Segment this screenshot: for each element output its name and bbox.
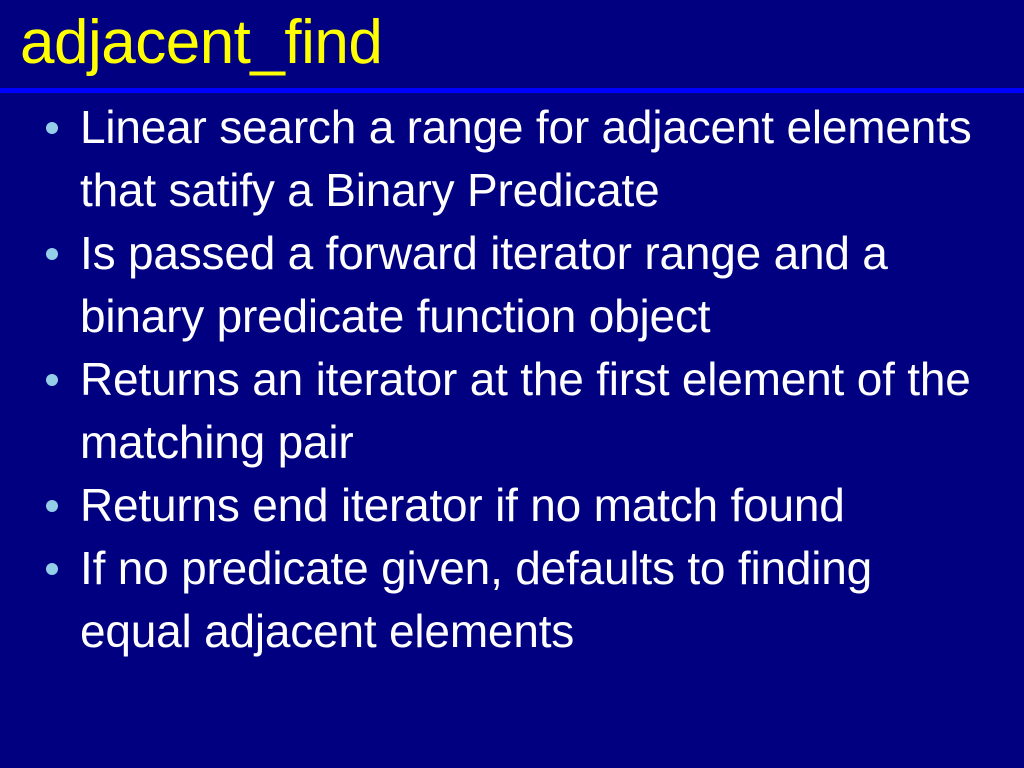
bullet-text: Is passed a forward iterator range and a… bbox=[80, 222, 985, 348]
bullet-dot-icon bbox=[46, 248, 58, 260]
bullet-dot-icon bbox=[46, 500, 58, 512]
bullet-text: Returns end iterator if no match found bbox=[80, 474, 985, 537]
bullet-dot-icon bbox=[46, 563, 58, 575]
bullet-list: Linear search a range for adjacent eleme… bbox=[0, 96, 1024, 663]
bullet-dot-icon bbox=[46, 374, 58, 386]
bullet-dot-icon bbox=[46, 122, 58, 134]
page-title: adjacent_find bbox=[20, 4, 382, 82]
list-item: Linear search a range for adjacent eleme… bbox=[0, 96, 1024, 222]
list-item: Is passed a forward iterator range and a… bbox=[0, 222, 1024, 348]
bullet-text: If no predicate given, defaults to findi… bbox=[80, 537, 985, 663]
presentation-slide: adjacent_find Linear search a range for … bbox=[0, 0, 1024, 768]
slide-body: Linear search a range for adjacent eleme… bbox=[0, 96, 1024, 663]
list-item: Returns end iterator if no match found bbox=[0, 474, 1024, 537]
title-divider-rule bbox=[0, 88, 1024, 93]
bullet-text: Returns an iterator at the first element… bbox=[80, 348, 985, 474]
list-item: Returns an iterator at the first element… bbox=[0, 348, 1024, 474]
list-item: If no predicate given, defaults to findi… bbox=[0, 537, 1024, 663]
slide-title-area: adjacent_find bbox=[0, 0, 1024, 88]
bullet-text: Linear search a range for adjacent eleme… bbox=[80, 96, 985, 222]
